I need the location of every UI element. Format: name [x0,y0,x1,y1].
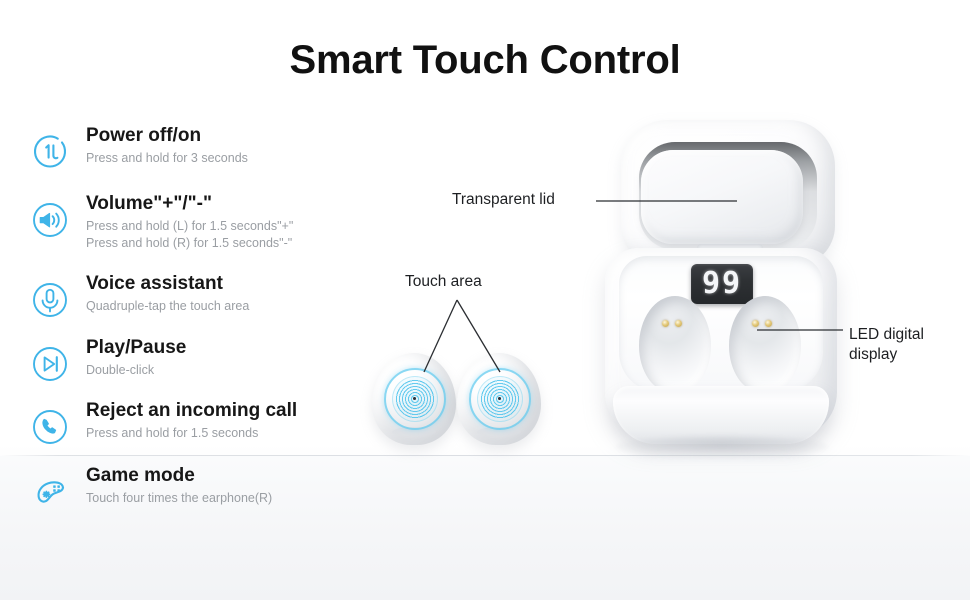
callout-led-display: LED digital display [849,325,959,365]
infographic-canvas: Smart Touch Control Power off/on Press a… [0,0,970,600]
callout-leader-lines [0,0,970,600]
callout-transparent-lid: Transparent lid [452,190,555,210]
callout-touch-area: Touch area [405,272,482,292]
leader-touch-area-right [457,300,500,372]
leader-touch-area-left [424,300,457,372]
